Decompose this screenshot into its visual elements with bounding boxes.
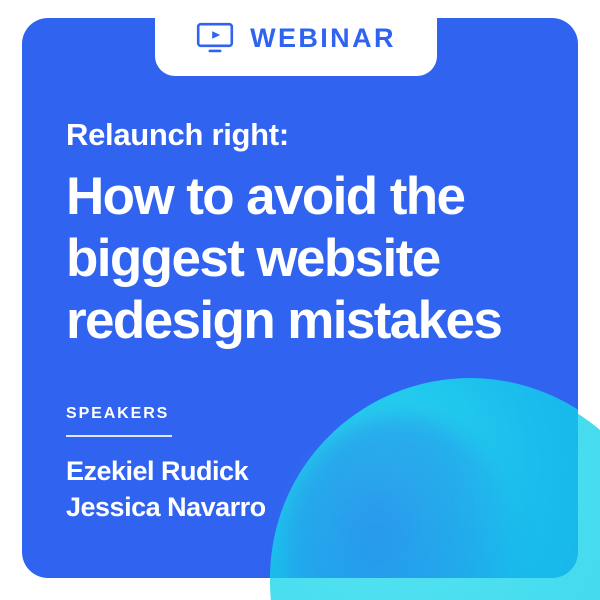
page-title: How to avoid the biggest website redesig… — [66, 166, 548, 352]
headline-line-1: How to avoid the — [66, 166, 548, 228]
monitor-play-icon — [196, 22, 234, 54]
headline-line-2: biggest website — [66, 228, 548, 290]
speakers-divider — [66, 435, 172, 437]
speaker-name-1: Ezekiel Rudick — [66, 454, 266, 490]
headline-line-3: redesign mistakes — [66, 290, 548, 352]
headline-block: Relaunch right: How to avoid the biggest… — [66, 118, 548, 352]
webinar-promo-graphic: Relaunch right: How to avoid the biggest… — [0, 0, 600, 600]
status-badge: WEBINAR — [155, 0, 437, 76]
badge-label: WEBINAR — [250, 25, 396, 52]
promo-card: Relaunch right: How to avoid the biggest… — [22, 18, 578, 578]
speakers-block: SPEAKERS Ezekiel Rudick Jessica Navarro — [66, 406, 266, 525]
speakers-label: SPEAKERS — [66, 406, 266, 422]
speaker-name-2: Jessica Navarro — [66, 490, 266, 526]
eyebrow-text: Relaunch right: — [66, 118, 548, 152]
